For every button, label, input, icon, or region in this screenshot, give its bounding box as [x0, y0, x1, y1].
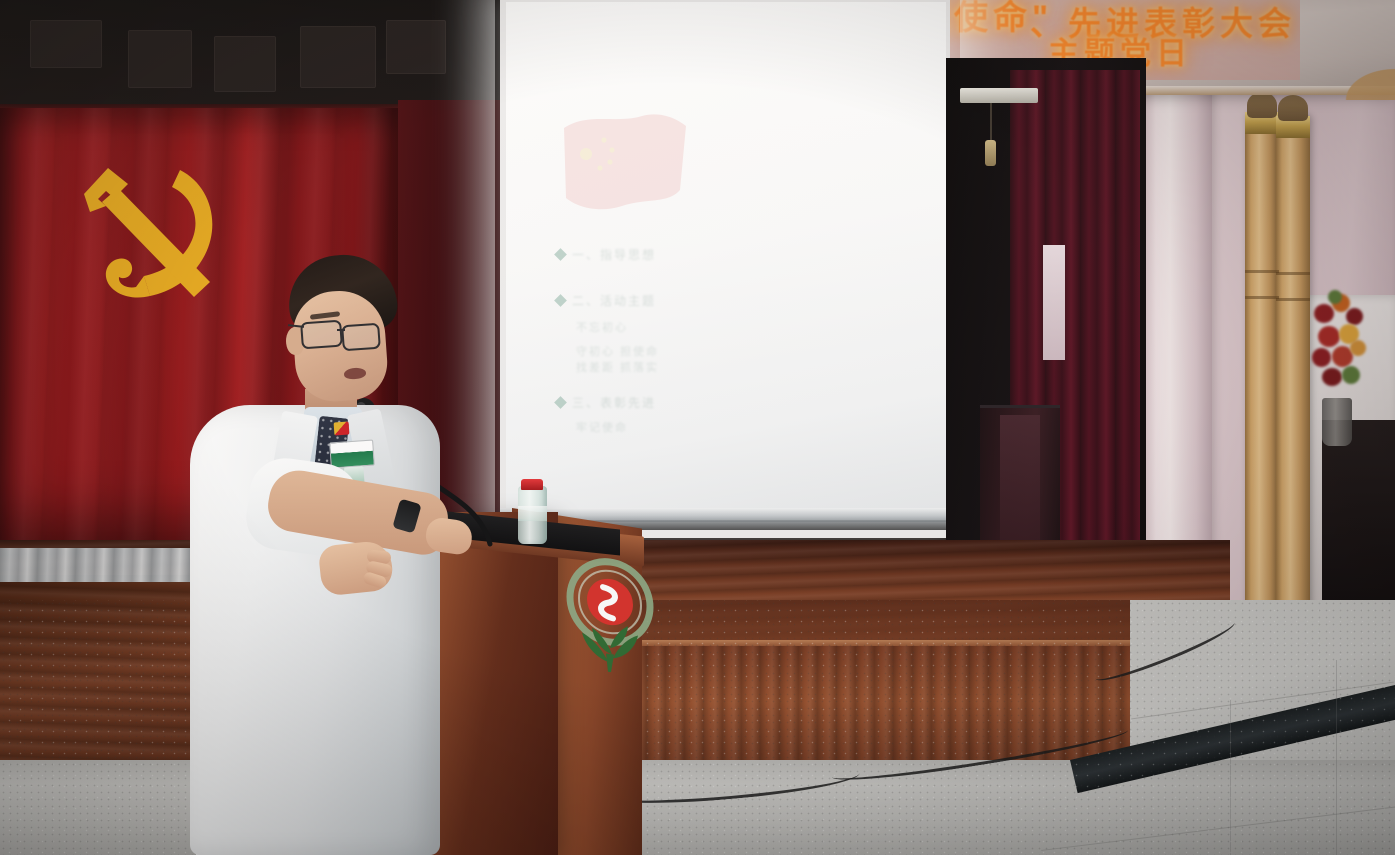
- presenting-doctor: [170, 255, 460, 855]
- slide-bullet-text-3: 三、表彰先进: [572, 394, 656, 412]
- column-ring-3: [1245, 296, 1279, 299]
- slide-sub-line-2: 守初心 担使命: [576, 344, 659, 362]
- water-bottle-label: [518, 506, 547, 521]
- photograph-scene: 忘记使命" 、先进表彰大会 主题党日: [0, 0, 1395, 855]
- decorative-column-left: [1245, 112, 1279, 632]
- floor-tile-seam-4: [1336, 660, 1337, 855]
- slide-sub-line-4: 牢记使命: [576, 420, 628, 438]
- staff-id-badge: [329, 439, 375, 468]
- hospital-crest-icon: [556, 543, 664, 681]
- bullet-marker-icon: [554, 248, 567, 261]
- bullet-marker-icon: [554, 396, 567, 409]
- eyeglasses-lens-left: [300, 320, 343, 350]
- dark-furniture: [1322, 420, 1395, 620]
- column-cap-left: [1247, 92, 1277, 118]
- stage-light-rig-2: [128, 30, 192, 88]
- slide-bullet-3: 三、表彰先进: [556, 394, 656, 412]
- column-ring-1: [1245, 270, 1279, 273]
- slide-sub-line-3: 找差距 抓落实: [576, 360, 659, 378]
- eyeglasses-lens-right: [341, 323, 381, 352]
- column-ring-4: [1276, 298, 1310, 301]
- slide-bullet-text-1: 一、指导思想: [572, 246, 656, 264]
- hanging-bulb-icon: [985, 140, 996, 166]
- cabinet-panel: [1000, 415, 1040, 560]
- stage-light-rig-3: [214, 36, 276, 92]
- party-emblem-pin-icon: [334, 421, 350, 435]
- soffit-curve-accent: [1300, 40, 1395, 100]
- floor-tile-seam-3: [1230, 700, 1231, 855]
- slide-bullet-2: 二、活动主题: [556, 292, 656, 310]
- decorative-column-right: [1276, 114, 1310, 614]
- floral-arrangement: [1308, 290, 1370, 410]
- column-ring-2: [1276, 272, 1310, 275]
- wing-fluorescent-light: [960, 88, 1038, 103]
- wing-wall-panel: [1043, 245, 1065, 360]
- stage-light-rig-1: [30, 20, 102, 68]
- stage-light-rig-4: [300, 26, 376, 88]
- slide-sub-line-1: 不忘初心: [576, 320, 628, 338]
- water-bottle-cap: [521, 479, 543, 490]
- slide-bullet-text-2: 二、活动主题: [572, 292, 656, 310]
- hanging-bulb-wire: [990, 103, 992, 143]
- stage-light-rig-5: [386, 20, 446, 74]
- chinese-national-flag-icon: [560, 110, 690, 220]
- slide-bullet-1: 一、指导思想: [556, 246, 656, 264]
- eyeglasses-bridge: [337, 329, 345, 331]
- bullet-marker-icon: [554, 294, 567, 307]
